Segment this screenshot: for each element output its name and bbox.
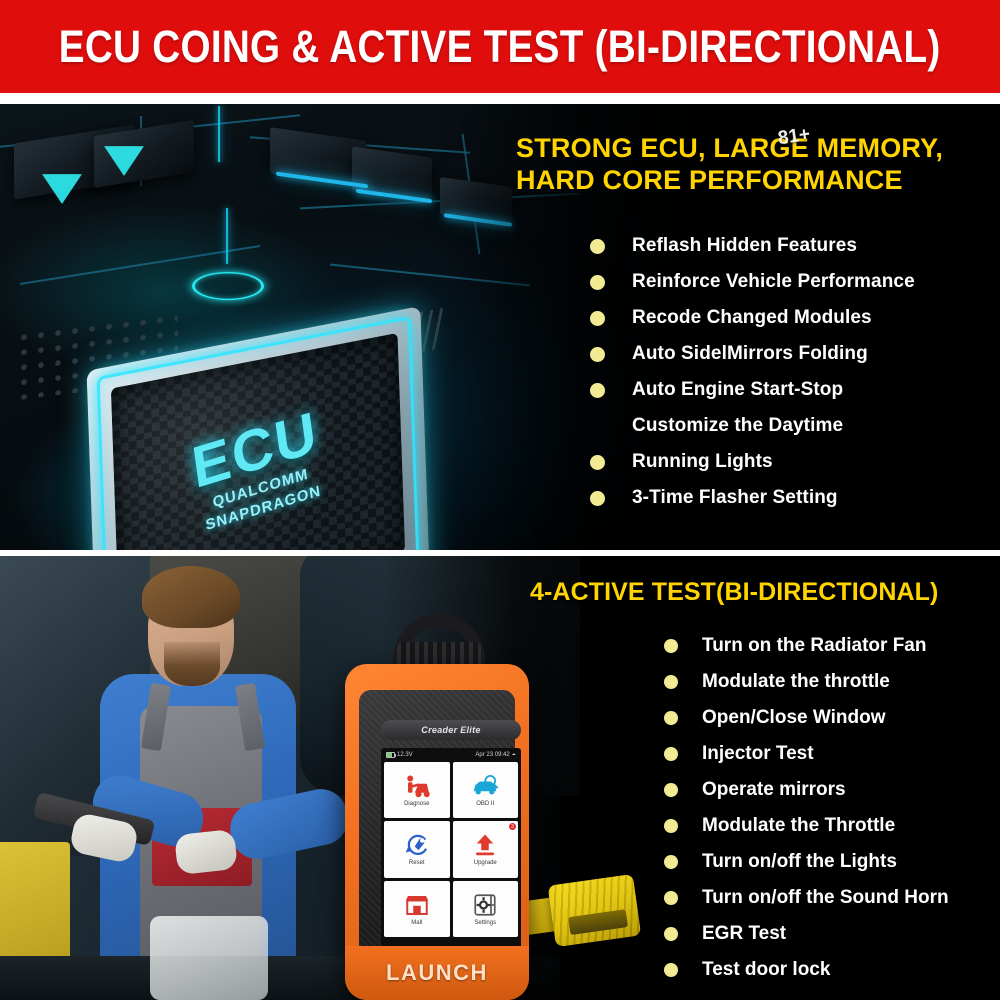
bottom-panel: Creader Elite 12.3V Apr 23 09:42 ◓	[0, 556, 1000, 1000]
bullet-dot-icon	[590, 311, 605, 326]
bullet-dot-icon	[664, 639, 678, 653]
list-item-label: Auto Engine Start-Stop	[632, 379, 843, 401]
list-item-label: EGR Test	[702, 923, 786, 945]
page-title: ECU COING & ACTIVE TEST (BI-DIRECTIONAL)	[59, 21, 941, 73]
top-panel: ECU QUALCOMM SNAPDRAGON STRONG ECU, LARG…	[0, 104, 1000, 550]
list-item: Modulate the throttle	[664, 664, 1000, 700]
list-item: Injector Test	[664, 736, 1000, 772]
header-banner: ECU COING & ACTIVE TEST (BI-DIRECTIONAL)	[0, 0, 1000, 93]
list-item: Customize the Daytime	[590, 408, 990, 444]
device-screen: 12.3V Apr 23 09:42 ◓	[381, 748, 521, 966]
wifi-icon: ◓	[512, 752, 516, 759]
list-item-label: Reflash Hidden Features	[632, 235, 857, 257]
top-feature-list: Reflash Hidden Features Reinforce Vehicl…	[590, 228, 990, 516]
list-item-label: Turn on the Radiator Fan	[702, 635, 926, 657]
tile-label: Upgrade	[474, 860, 497, 866]
list-item-label: Running Lights	[632, 451, 773, 473]
top-heading-line2: HARD CORE PERFORMANCE	[516, 164, 986, 196]
tile-upgrade[interactable]: 3 Upgrade	[453, 821, 519, 877]
list-item: Turn on/off the Sound Horn	[664, 880, 1000, 916]
bullet-dot-icon	[664, 711, 678, 725]
voltage-label: 12.3V	[397, 752, 413, 758]
brand-label: LAUNCH	[386, 960, 488, 986]
tile-label: Mall	[411, 920, 422, 926]
bullet-dot-icon	[664, 747, 678, 761]
tile-reset[interactable]: Reset	[384, 821, 450, 877]
list-item-label: Operate mirrors	[702, 779, 846, 801]
bullet-dot-icon	[590, 347, 605, 362]
top-heading-block: STRONG ECU, LARGE MEMORY, HARD CORE PERF…	[516, 132, 986, 197]
list-item: EGR Test	[664, 916, 1000, 952]
bottom-heading: 4-ACTIVE TEST(BI-DIRECTIONAL)	[530, 578, 990, 607]
list-item-label: Recode Changed Modules	[632, 307, 872, 329]
tile-label: OBD II	[476, 801, 494, 807]
scanner-device: Creader Elite 12.3V Apr 23 09:42 ◓	[345, 652, 529, 1000]
list-item: Operate mirrors	[664, 772, 1000, 808]
marketing-infographic: ECU COING & ACTIVE TEST (BI-DIRECTIONAL)	[0, 0, 1000, 1000]
bullet-dot-icon	[664, 783, 678, 797]
list-item: Auto Engine Start-Stop	[590, 372, 990, 408]
tile-settings[interactable]: Settings	[453, 881, 519, 937]
list-item-label: 3-Time Flasher Setting	[632, 487, 838, 509]
list-item: Test door lock	[664, 952, 1000, 988]
list-item: Recode Changed Modules	[590, 300, 990, 336]
bullet-dot-icon	[590, 383, 605, 398]
list-item-label: Reinforce Vehicle Performance	[632, 271, 915, 293]
bullet-dot-icon	[664, 891, 678, 905]
list-item-label: Customize the Daytime	[632, 415, 843, 437]
bullet-dot-icon	[664, 927, 678, 941]
device-brand-bar: LAUNCH	[345, 946, 529, 1000]
bullet-dot-icon	[590, 275, 605, 290]
watermark-text: 81+	[777, 124, 812, 150]
list-item-label: Turn on/off the Sound Horn	[702, 887, 949, 909]
diagnose-icon	[402, 773, 432, 799]
device-model-badge: Creader Elite	[381, 720, 521, 740]
list-item: Turn on/off the Lights	[664, 844, 1000, 880]
list-item: Reflash Hidden Features	[590, 228, 990, 264]
reset-wrench-icon	[402, 832, 432, 858]
device-body: Creader Elite 12.3V Apr 23 09:42 ◓	[345, 664, 529, 1000]
list-item-label: Test door lock	[702, 959, 830, 981]
list-item: Modulate the Throttle	[664, 808, 1000, 844]
bullet-dot-icon	[664, 963, 678, 977]
bullet-dot-icon	[664, 675, 678, 689]
list-item-label: Auto SidelMirrors Folding	[632, 343, 868, 365]
list-item-label: Modulate the Throttle	[702, 815, 895, 837]
list-item-label: Injector Test	[702, 743, 814, 765]
list-item: 3-Time Flasher Setting	[590, 480, 990, 516]
list-item: Auto SidelMirrors Folding	[590, 336, 990, 372]
tile-label: Settings	[474, 920, 496, 926]
tile-obd2[interactable]: OBD II	[453, 762, 519, 818]
battery-icon	[386, 752, 395, 758]
list-item-label: Turn on/off the Lights	[702, 851, 897, 873]
bullet-dot-icon	[664, 855, 678, 869]
list-item: Running Lights	[590, 444, 990, 480]
bullet-dot-icon	[590, 491, 605, 506]
top-heading-line1: STRONG ECU, LARGE MEMORY,	[516, 132, 986, 164]
tile-diagnose[interactable]: Diagnose	[384, 762, 450, 818]
tile-label: Reset	[409, 860, 425, 866]
status-badge: 3	[509, 823, 516, 830]
status-bar: 12.3V Apr 23 09:42 ◓	[381, 748, 521, 762]
list-item: Reinforce Vehicle Performance	[590, 264, 990, 300]
app-tile-grid: Diagnose OBD II	[381, 762, 521, 940]
mall-shop-icon	[402, 892, 432, 918]
list-item: Open/Close Window	[664, 700, 1000, 736]
glow-ring-decor	[192, 272, 264, 300]
settings-gear-icon	[470, 892, 500, 918]
list-item-label: Modulate the throttle	[702, 671, 890, 693]
datetime-label: Apr 23 09:42	[475, 752, 509, 758]
list-item-label: Open/Close Window	[702, 707, 886, 729]
upgrade-arrow-icon	[470, 832, 500, 858]
list-item: Turn on the Radiator Fan	[664, 628, 1000, 664]
bottom-feature-list: Turn on the Radiator Fan Modulate the th…	[664, 628, 1000, 988]
bullet-dot-icon	[664, 819, 678, 833]
bullet-dot-icon	[590, 239, 605, 254]
obd-scan-icon	[470, 773, 500, 799]
tile-mall[interactable]: Mall	[384, 881, 450, 937]
bullet-dot-icon	[590, 455, 605, 470]
device-model-label: Creader Elite	[421, 725, 480, 735]
tile-label: Diagnose	[404, 801, 429, 807]
